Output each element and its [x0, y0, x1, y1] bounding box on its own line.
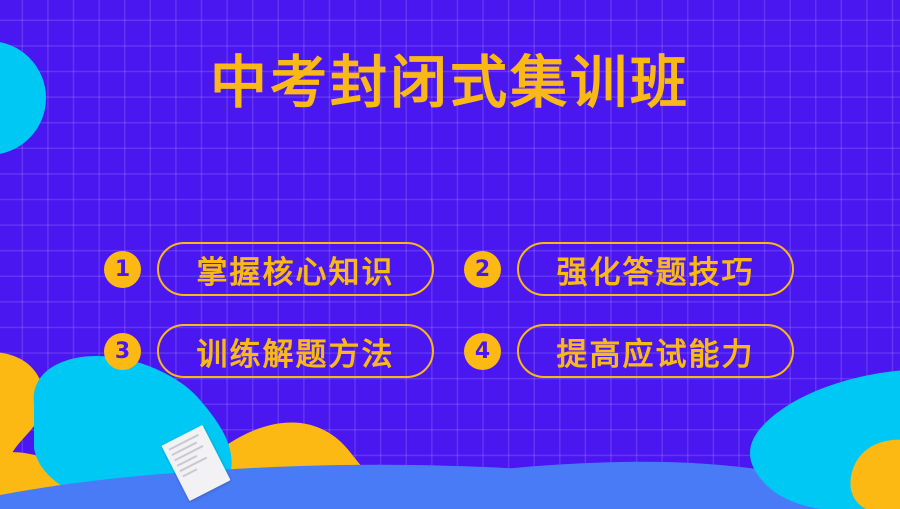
paper-text-line: [180, 457, 208, 473]
feature-number-badge-1: 1: [104, 251, 141, 288]
paper-note-icon: [161, 425, 230, 501]
paper-text-line: [171, 441, 197, 456]
paper-text-line: [174, 445, 203, 461]
promo-banner: 中考封闭式集训班 1 掌握核心知识 2 强化答题技巧 3 训练解题方法 4 提高…: [0, 0, 900, 509]
feature-item-2[interactable]: 2 强化答题技巧: [464, 228, 824, 310]
feature-label-pill-2[interactable]: 强化答题技巧: [517, 242, 794, 296]
banner-title: 中考封闭式集训班: [0, 50, 900, 116]
feature-label-pill-3[interactable]: 训练解题方法: [157, 324, 434, 378]
paper-text-line: [177, 455, 197, 467]
yellow-blob-right-decoration: [850, 440, 900, 509]
feature-item-1[interactable]: 1 掌握核心知识: [104, 228, 464, 310]
feature-number-badge-3: 3: [104, 333, 141, 370]
feature-item-4[interactable]: 4 提高应试能力: [464, 310, 824, 392]
blue-wave-decoration: [0, 465, 900, 509]
feature-label-pill-1[interactable]: 掌握核心知识: [157, 242, 434, 296]
feature-item-3[interactable]: 3 训练解题方法: [104, 310, 464, 392]
blue-wave-right-decoration: [330, 462, 860, 509]
feature-number-badge-4: 4: [464, 333, 501, 370]
yellow-blob-lower-decoration: [0, 423, 420, 509]
feature-number-badge-2: 2: [464, 251, 501, 288]
paper-text-line: [182, 468, 197, 477]
feature-list: 1 掌握核心知识 2 强化答题技巧 3 训练解题方法 4 提高应试能力: [104, 228, 804, 392]
paper-text-line: [169, 434, 199, 451]
feature-label-pill-4[interactable]: 提高应试能力: [517, 324, 794, 378]
paper-sheet: [161, 425, 230, 501]
